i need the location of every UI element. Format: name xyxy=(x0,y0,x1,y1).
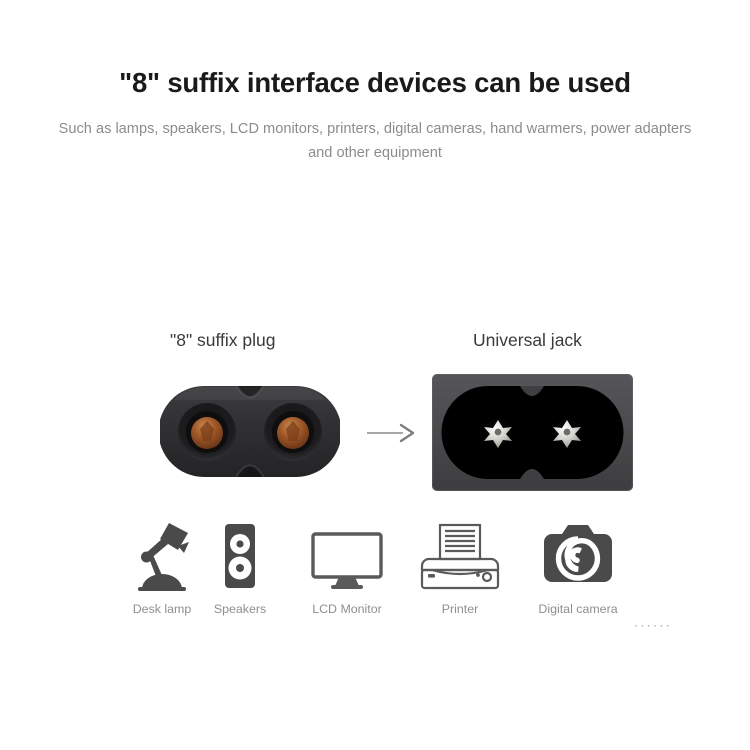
device-item-speakers: Speakers xyxy=(185,520,295,616)
page-subtitle: Such as lamps, speakers, LCD monitors, p… xyxy=(0,118,750,165)
device-item-digital-camera: Digital camera xyxy=(523,520,633,616)
figure-eight-jack-icon xyxy=(430,370,635,495)
device-label: Digital camera xyxy=(523,602,633,616)
device-label: LCD Monitor xyxy=(292,602,402,616)
device-label: Printer xyxy=(405,602,515,616)
device-icon-row: Desk lamp Speakers xyxy=(0,520,750,640)
figure-eight-plug-icon xyxy=(160,384,340,479)
header: "8" suffix interface devices can be used… xyxy=(0,66,750,165)
arrow-right-icon xyxy=(365,422,420,444)
speaker-icon xyxy=(185,520,295,592)
device-label: Speakers xyxy=(185,602,295,616)
device-item-lcd-monitor: LCD Monitor xyxy=(292,520,402,616)
page-title: "8" suffix interface devices can be used xyxy=(0,66,750,99)
plug-caption: "8" suffix plug xyxy=(170,330,276,351)
comparison-section: "8" suffix plug Universal jack xyxy=(0,330,750,510)
jack-caption: Universal jack xyxy=(473,330,582,351)
camera-icon xyxy=(523,520,633,592)
monitor-icon xyxy=(292,520,402,592)
more-devices-indicator: ······ xyxy=(634,618,672,632)
printer-icon xyxy=(405,520,515,592)
device-item-printer: Printer xyxy=(405,520,515,616)
infographic-page: "8" suffix interface devices can be used… xyxy=(0,0,750,750)
